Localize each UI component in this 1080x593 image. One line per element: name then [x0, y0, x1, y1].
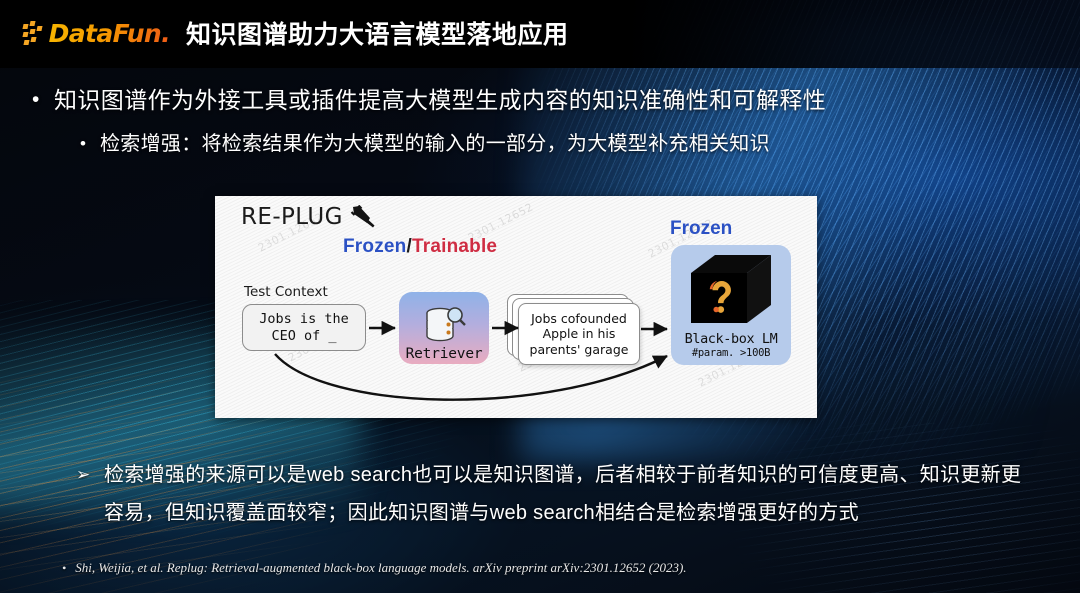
legend-frozen: Frozen — [343, 236, 406, 257]
datafun-logo-text: DataFun. — [49, 19, 170, 48]
citation-marker: • — [62, 560, 66, 577]
bullet-level2-marker: • — [80, 130, 100, 158]
black-box-lm-label: Black-box LM — [685, 331, 778, 347]
test-context-label: Test Context — [244, 284, 328, 300]
page-title: 知识图谱助力大语言模型落地应用 — [186, 15, 569, 51]
frozen-label-lm: Frozen — [670, 218, 732, 240]
slide-header: DataFun. 知识图谱助力大语言模型落地应用 — [0, 0, 1080, 66]
citation-text: Shi, Weijia, et al. Replug: Retrieval-au… — [75, 560, 686, 576]
datafun-dots-logo-icon — [22, 20, 48, 46]
legend-trainable: Trainable — [412, 236, 497, 257]
bullet-level1-text: 知识图谱作为外接工具或插件提高大模型生成内容的知识准确性和可解释性 — [54, 85, 826, 115]
bullet-level1-marker: • — [32, 85, 54, 115]
datafun-logo: DataFun. — [22, 15, 170, 51]
test-context-box: Jobs is the CEO of _ — [242, 304, 366, 351]
replug-figure: 2301.12652 2301.12652 2301.12652 2301.12… — [215, 196, 817, 418]
bullet-level3-marker: ➢ — [76, 456, 104, 494]
database-search-icon — [422, 306, 466, 346]
figure-title-group: RE-PLUG — [241, 204, 376, 230]
bullet-level1: • 知识图谱作为外接工具或插件提高大模型生成内容的知识准确性和可解释性 — [32, 85, 826, 115]
retrieved-documents: Jobs cofounded Apple in his parents' gar… — [507, 294, 643, 366]
document-text: Jobs cofounded Apple in his parents' gar… — [519, 311, 639, 358]
power-plug-icon — [350, 205, 376, 229]
figure-title: RE-PLUG — [241, 204, 343, 230]
retriever-box: Retriever — [399, 292, 489, 364]
test-context-value: Jobs is the CEO of _ — [259, 311, 348, 345]
bullet-level2: • 检索增强：将检索结果作为大模型的输入的一部分，为大模型补充相关知识 — [80, 130, 770, 158]
black-box-lm-sublabel: #param. >100B — [692, 347, 770, 359]
bullet-level3-text: 检索增强的来源可以是web search也可以是知识图谱，后者相较于前者知识的可… — [104, 456, 1026, 532]
black-box-lm-panel: Black-box LM #param. >100B — [671, 245, 791, 365]
slide: DataFun. 知识图谱助力大语言模型落地应用 • 知识图谱作为外接工具或插件… — [0, 0, 1080, 593]
retriever-label: Retriever — [406, 346, 483, 362]
bullet-level2-text: 检索增强：将检索结果作为大模型的输入的一部分，为大模型补充相关知识 — [100, 130, 770, 158]
document-card-front: Jobs cofounded Apple in his parents' gar… — [518, 303, 640, 365]
frozen-trainable-legend: Frozen/Trainable — [343, 236, 497, 258]
citation: • Shi, Weijia, et al. Replug: Retrieval-… — [62, 560, 687, 577]
black-box-question-cube-icon — [683, 251, 779, 329]
bullet-level3: ➢ 检索增强的来源可以是web search也可以是知识图谱，后者相较于前者知识… — [76, 456, 1026, 532]
